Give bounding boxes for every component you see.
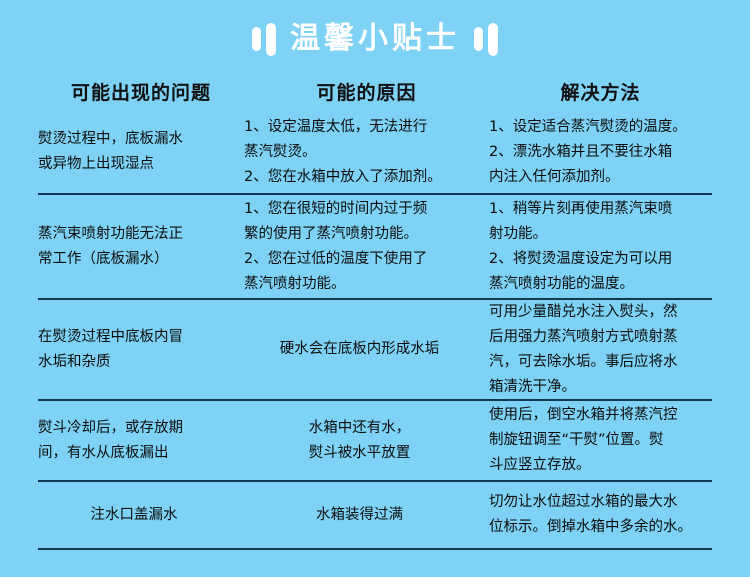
cell-solution: 可用少量醋兑水注入熨头，然 后用强力蒸汽喷射方式喷射蒸 汽，可去除水垢。事后应将… (489, 290, 712, 410)
table-row: 注水口盖漏水 水箱装得过满 切勿让水位超过水箱的最大水 位标示。倒掉水箱中多余的… (38, 482, 712, 550)
cell-solution: 1、设定适合蒸汽熨烫的温度。 2、漂洗水箱并且不要往水箱 内注入任何添加剂。 (489, 105, 712, 200)
page-title: 温馨小贴士 (290, 24, 460, 54)
title-right-bars-icon (474, 22, 498, 56)
table-row: 蒸汽束喷射功能无法正 常工作（底板漏水） 1、您在很短的时间内过于频 繁的使用了… (38, 195, 712, 300)
table-row: 在熨烫过程中底板内冒 水垢和杂质 硬水会在底板内形成水垢 可用少量醋兑水注入熨头… (38, 300, 712, 401)
cell-solution: 1、稍等片刻再使用蒸汽束喷 射功能。 2、将熨烫温度设定为可以用 蒸汽喷射功能的… (489, 187, 712, 307)
cell-cause: 1、您在很短的时间内过于频 繁的使用了蒸汽喷射功能。 2、您在过低的温度下使用了… (244, 187, 489, 307)
page-title-bar: 温馨小贴士 (0, 0, 750, 78)
cell-problem: 在熨烫过程中底板内冒 水垢和杂质 (38, 315, 244, 385)
cell-cause: 水箱中还有水， 熨斗被水平放置 (244, 406, 489, 476)
cell-problem: 蒸汽束喷射功能无法正 常工作（底板漏水） (38, 212, 244, 282)
cell-solution: 切勿让水位超过水箱的最大水 位标示。倒掉水箱中多余的水。 (489, 480, 712, 550)
table-row: 熨烫过程中，底板漏水 或异物上出现湿点 1、设定温度太低，无法进行 蒸汽熨烫。 … (38, 111, 712, 195)
cell-problem: 注水口盖漏水 (38, 493, 244, 538)
tips-table: 可能出现的问题 可能的原因 解决方法 熨烫过程中，底板漏水 或异物上出现湿点 1… (0, 78, 750, 550)
cell-cause: 水箱装得过满 (244, 493, 489, 538)
cell-problem: 熨烫过程中，底板漏水 或异物上出现湿点 (38, 117, 244, 187)
column-header-solution: 解决方法 (489, 78, 712, 105)
cell-cause: 硬水会在底板内形成水垢 (244, 327, 489, 372)
column-header-problem: 可能出现的问题 (38, 78, 244, 105)
table-row: 熨斗冷却后，或存放期 间，有水从底板漏出 水箱中还有水， 熨斗被水平放置 使用后… (38, 401, 712, 482)
title-left-bars-icon (252, 22, 276, 56)
cell-solution: 使用后，倒空水箱并将蒸汽控 制旋钮调至“干熨”位置。熨 斗应竖立存放。 (489, 393, 712, 488)
cell-problem: 熨斗冷却后，或存放期 间，有水从底板漏出 (38, 406, 244, 476)
cell-cause: 1、设定温度太低，无法进行 蒸汽熨烫。 2、您在水箱中放入了添加剂。 (244, 105, 489, 200)
column-header-cause: 可能的原因 (244, 78, 489, 105)
